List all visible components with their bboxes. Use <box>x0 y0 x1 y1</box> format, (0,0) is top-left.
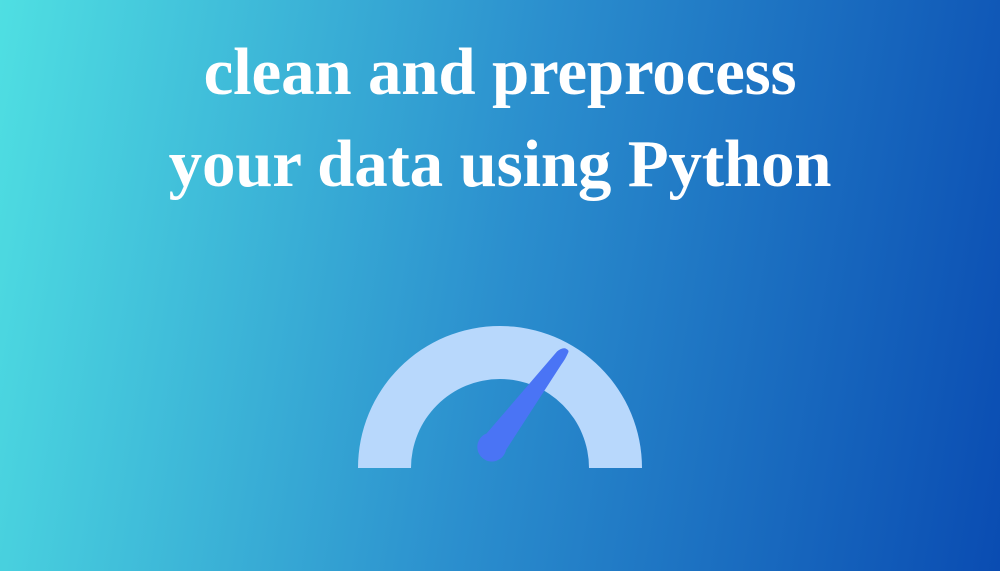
headline-line-2: your data using Python <box>0 118 1000 210</box>
poster-canvas: clean and preprocess your data using Pyt… <box>0 0 1000 571</box>
speedometer-icon <box>350 318 650 478</box>
page-title: clean and preprocess your data using Pyt… <box>0 26 1000 210</box>
headline-line-1: clean and preprocess <box>0 26 1000 118</box>
gauge-illustration <box>350 318 650 478</box>
